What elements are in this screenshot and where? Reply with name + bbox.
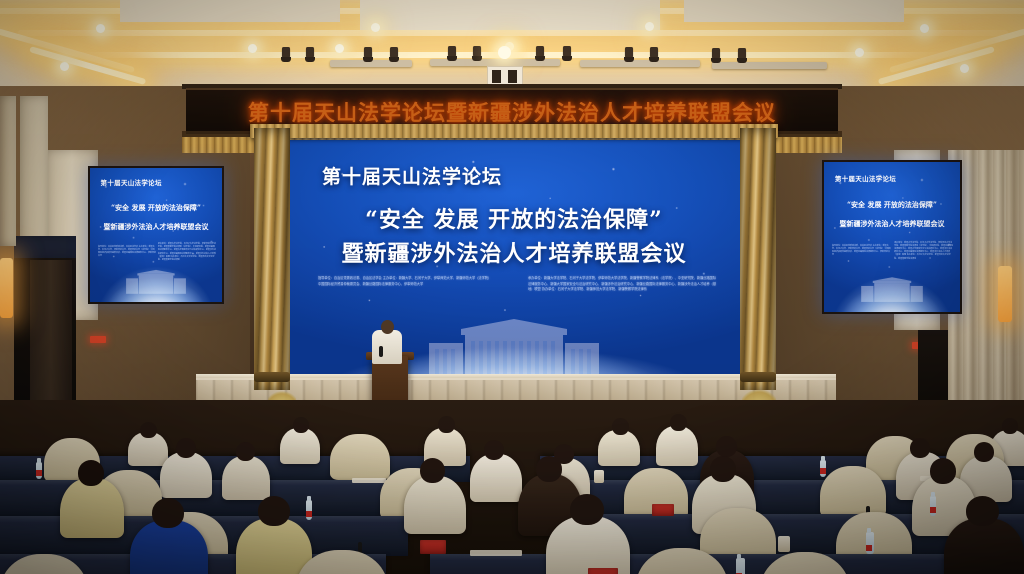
attendee-head: [974, 442, 994, 462]
attendee-head: [140, 422, 157, 438]
side-screen-left-subtitle: 暨新疆涉外法治人才培养联盟会议: [90, 222, 222, 232]
downlight: [335, 44, 344, 53]
water-bottle: [820, 460, 826, 477]
downlight: [248, 44, 257, 53]
tea-cup: [594, 470, 604, 483]
attendee: [598, 430, 640, 466]
attendee-head: [930, 458, 956, 484]
side-screen-right: 第十届天山法学论坛 “安全 发展 开放的法治保障” 暨新疆涉外法治人才培养联盟会…: [822, 160, 962, 314]
stage-spotlight: [473, 46, 481, 59]
side-screen-right-heading: 第十届天山法学论坛: [835, 173, 896, 183]
stage-curtain-right: [740, 128, 776, 390]
stage-curtain-left: [254, 128, 290, 390]
cove-light-ring-2: [18, 30, 1008, 36]
cove-light-ring-3: [60, 52, 966, 58]
downlight: [96, 24, 105, 33]
attendee: [280, 428, 320, 464]
side-screen-right-theme: “安全 发展 开放的法治保障”: [824, 200, 960, 210]
stage-spotlight: [306, 47, 314, 60]
side-screen-left: 第十届天山法学论坛 “安全 发展 开放的法治保障” 暨新疆涉外法治人才培养联盟会…: [88, 166, 224, 304]
attendee-head: [438, 416, 455, 433]
left-column: [0, 96, 16, 246]
side-screen-left-theme: “安全 发展 开放的法治保障”: [90, 203, 222, 213]
paper-document: [470, 550, 522, 556]
main-presentation-screen: 第十届天山法学论坛 “安全 发展 开放的法治保障” 暨新疆涉外法治人才培养联盟会…: [288, 140, 740, 383]
downlight: [645, 22, 654, 31]
attendee-head: [258, 496, 290, 526]
chair: [330, 434, 390, 480]
attendee: [236, 518, 312, 574]
water-bottle: [306, 500, 312, 520]
led-banner-text: 第十届天山法学论坛暨新疆涉外法治人才培养联盟会议: [248, 97, 776, 127]
downlight: [960, 64, 969, 73]
attendee-head: [176, 438, 196, 458]
attendee: [222, 456, 270, 500]
right-wall-sconce: [998, 266, 1012, 322]
curtain-tieback-left: [254, 372, 290, 382]
spotlight-rail-right: [580, 60, 700, 67]
podium-microphone: [379, 346, 383, 357]
left-exit-sign: [90, 336, 106, 343]
water-bottle: [866, 532, 874, 554]
side-screen-right-glow: [824, 256, 960, 314]
stage-spotlight: [563, 46, 571, 59]
projector-lens-right: [508, 70, 517, 83]
attendee: [944, 518, 1024, 574]
side-screen-right-subtitle: 暨新疆涉外法治人才培养联盟会议: [824, 219, 960, 229]
conference-hall-photo: 第十届天山法学论坛暨新疆涉外法治人才培养联盟会议: [0, 0, 1024, 574]
attendee: [130, 520, 208, 574]
attendee: [470, 454, 522, 502]
attendee-head: [570, 494, 604, 525]
courthouse-building-graphic: [409, 313, 619, 383]
side-screen-left-heading: 第十届天山法学论坛: [101, 177, 162, 187]
projector-lens-left: [492, 70, 501, 83]
attendee-head: [612, 418, 629, 435]
attendee: [656, 426, 698, 466]
stage-spotlight: [712, 48, 720, 61]
attendee-head: [670, 414, 687, 431]
water-bottle: [36, 462, 42, 479]
stage-spotlight: [364, 47, 372, 60]
tissue-box: [420, 540, 446, 554]
attendee-head: [966, 496, 999, 526]
stage-spotlight: [282, 47, 290, 60]
paper-document: [352, 478, 386, 483]
screen-theme-line: “安全 发展 开放的法治保障”: [288, 202, 740, 234]
screen-subtitle-line: 暨新疆涉外法治人才培养联盟会议: [288, 236, 740, 268]
left-wall-sconce: [0, 258, 13, 318]
stage-spotlight: [738, 48, 746, 61]
ceiling: [0, 0, 1024, 96]
downlight: [60, 62, 69, 71]
tissue-box: [588, 568, 618, 574]
screen-fine-print-left: 指导单位：自治区党委政法委、自治区法学会 主办单位：新疆大学、石河子大学、伊犁师…: [318, 276, 493, 287]
attendee-head: [716, 436, 737, 457]
chair: [820, 466, 886, 518]
attendee-head: [1002, 418, 1018, 434]
attendee-head: [484, 440, 504, 460]
attendee-head: [236, 442, 255, 461]
attendee-head: [710, 456, 736, 482]
attendee: [160, 452, 212, 498]
tissue-box: [652, 504, 674, 516]
stage-spotlight: [390, 47, 398, 60]
ceiling-panel-center: [360, 0, 660, 30]
stage-spotlight: [536, 46, 544, 59]
water-bottle: [930, 496, 936, 516]
spotlight-rail-far-right: [712, 62, 827, 69]
ceiling-panel-left: [120, 0, 340, 22]
attendee-head: [536, 456, 562, 482]
downlight-bright-center: [498, 46, 511, 59]
side-screen-left-glow: [90, 246, 222, 304]
downlight: [920, 24, 929, 33]
stage-curtain-header: [250, 124, 778, 138]
stage-spotlight: [650, 47, 658, 60]
attendee-head: [420, 458, 445, 483]
speaker-head: [381, 320, 394, 334]
speaker-body: [372, 330, 402, 364]
ceiling-panel-right: [684, 0, 904, 22]
curtain-tieback-right: [740, 372, 776, 382]
downlight: [371, 23, 380, 32]
stage-spotlight: [448, 46, 456, 59]
attendee-head: [910, 438, 930, 458]
left-upper-band: [14, 236, 76, 258]
attendee-head: [78, 460, 104, 486]
screen-fine-print-right: 承办单位：新疆大学法学院、石河子大学法学院、伊犁师范大学法学院、新疆警察学院法律…: [528, 276, 718, 293]
table-row: [430, 558, 1024, 574]
water-bottle: [736, 558, 745, 574]
screen-heading: 第十届天山法学论坛: [322, 162, 502, 189]
attendee-head: [293, 417, 309, 433]
attendee-head: [152, 498, 184, 528]
tea-cup: [778, 536, 790, 552]
stage-spotlight: [625, 47, 633, 60]
audience-area: [0, 400, 1024, 574]
downlight: [855, 48, 864, 57]
attendee: [60, 478, 124, 538]
attendee: [404, 476, 466, 534]
